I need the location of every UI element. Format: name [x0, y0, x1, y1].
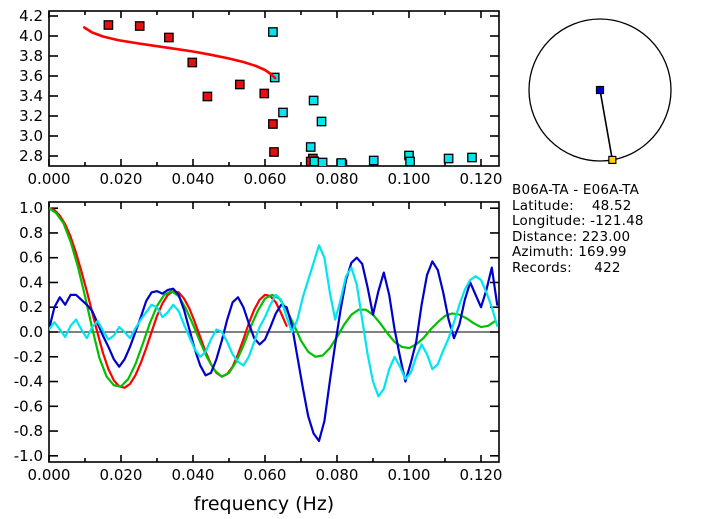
y-tick-label: -1.0 [14, 447, 43, 465]
data-point-marker [370, 156, 378, 164]
x-tick-label: 0.060 [244, 466, 287, 484]
data-point-marker [165, 33, 173, 41]
y-tick-label: 3.6 [19, 67, 43, 85]
data-point-marker [269, 120, 277, 128]
spectrum-curve-blue-component [49, 258, 497, 441]
y-tick-label: 3.2 [19, 107, 43, 125]
data-point-marker [406, 157, 414, 165]
x-tick-label: 0.000 [28, 170, 71, 188]
x-tick-label: 0.040 [172, 466, 215, 484]
center-station-marker [597, 87, 604, 94]
data-point-marker [279, 108, 287, 116]
data-point-marker [444, 154, 452, 162]
data-point-marker [309, 96, 317, 104]
data-point-marker [269, 28, 277, 36]
y-tick-label: 0.6 [19, 249, 43, 267]
data-point-marker [270, 148, 278, 156]
x-tick-label: 0.100 [388, 466, 431, 484]
data-point-marker [468, 153, 476, 161]
y-tick-label: 0.8 [19, 224, 43, 242]
station-info-panel: B06A-TA - E06A-TALatitude: 48.52Longitud… [512, 183, 644, 277]
x-tick-label: 0.120 [460, 170, 503, 188]
data-point-marker [307, 143, 315, 151]
x-tick-label: 0.000 [28, 466, 71, 484]
x-tick-label: 0.100 [388, 170, 431, 188]
azimuth-row: Azimuth: 169.99 [512, 245, 644, 261]
x-tick-label: 0.080 [316, 466, 359, 484]
data-point-marker [337, 159, 345, 167]
y-tick-label: 3.0 [19, 127, 43, 145]
y-tick-label: 4.0 [19, 27, 43, 45]
remote-station-marker [609, 156, 616, 163]
y-tick-label: -0.8 [14, 422, 43, 440]
data-point-marker [203, 92, 211, 100]
y-tick-label: 0.4 [19, 273, 43, 291]
x-tick-label: 0.040 [172, 170, 215, 188]
data-point-marker [260, 89, 268, 97]
data-point-marker [310, 157, 318, 165]
x-tick-label: 0.020 [100, 170, 143, 188]
data-point-marker [236, 80, 244, 88]
x-tick-label: 0.060 [244, 170, 287, 188]
y-tick-label: 0.2 [19, 298, 43, 316]
data-point-marker [317, 117, 325, 125]
y-tick-label: 0.0 [19, 323, 43, 341]
y-tick-label: 3.8 [19, 47, 43, 65]
x-tick-label: 0.080 [316, 170, 359, 188]
data-point-marker [136, 22, 144, 30]
y-tick-label: 2.8 [19, 147, 43, 165]
data-point-marker [188, 58, 196, 66]
distance-row: Distance: 223.00 [512, 230, 644, 246]
y-tick-label: 3.4 [19, 87, 43, 105]
x-axis-title: frequency (Hz) [194, 493, 334, 515]
x-tick-label: 0.020 [100, 466, 143, 484]
azimuth-ray [600, 90, 612, 160]
data-point-marker [318, 158, 326, 166]
x-tick-label: 0.120 [460, 466, 503, 484]
y-tick-label: -0.4 [14, 373, 43, 391]
dispersion-model-curve [84, 28, 275, 79]
y-tick-label: -0.2 [14, 348, 43, 366]
longitude-row: Longitude: -121.48 [512, 214, 644, 230]
data-point-marker [104, 21, 112, 29]
station-pair-label: B06A-TA - E06A-TA [512, 183, 644, 199]
records-row: Records: 422 [512, 261, 644, 277]
y-tick-label: -0.6 [14, 397, 43, 415]
latitude-row: Latitude: 48.52 [512, 199, 644, 215]
y-tick-label: 1.0 [19, 199, 43, 217]
y-tick-label: 4.2 [19, 7, 43, 25]
